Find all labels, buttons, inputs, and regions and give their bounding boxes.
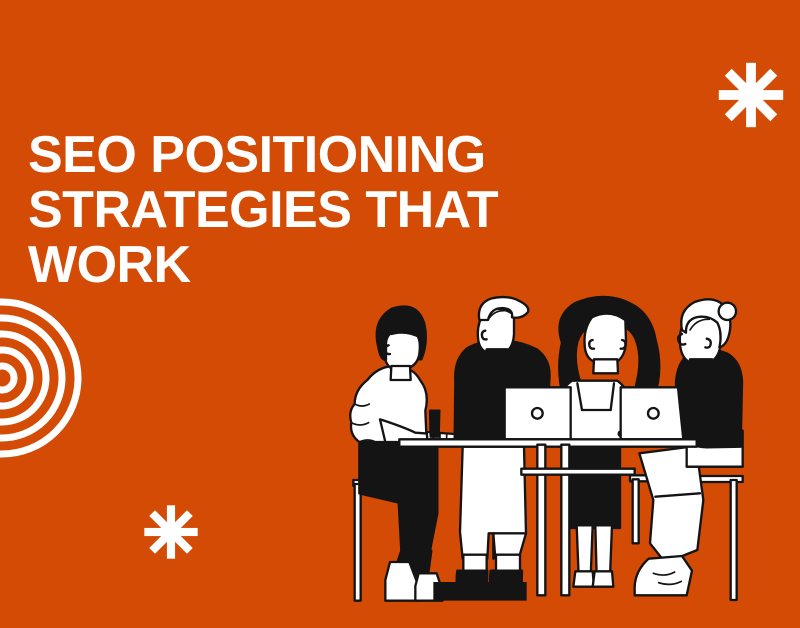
title-line-2: STRATEGIES THAT	[28, 183, 588, 238]
title-line-1: SEO POSITIONING	[28, 128, 588, 183]
page-title: SEO POSITIONING STRATEGIES THAT WORK	[28, 128, 588, 293]
laptop-left	[505, 387, 571, 439]
asterisk-icon	[142, 503, 200, 561]
figure-1	[350, 307, 457, 601]
figure-2	[433, 297, 549, 601]
cup	[430, 411, 439, 437]
team-meeting-illustration: .ln { fill:none; stroke:#141414; stroke-…	[320, 280, 800, 628]
title-line-3: WORK	[28, 238, 588, 293]
asterisk-icon	[716, 60, 786, 130]
laptop-right	[621, 387, 684, 439]
concentric-rings-icon	[0, 298, 82, 458]
poster-canvas: SEO POSITIONING STRATEGIES THAT WORK	[0, 0, 800, 628]
